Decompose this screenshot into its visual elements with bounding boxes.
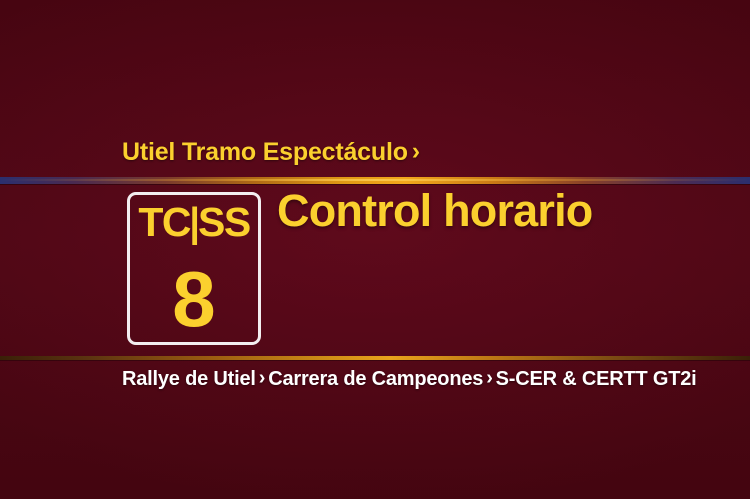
chevron-right-icon: ›	[412, 137, 420, 166]
plate-code-right: SS	[198, 199, 250, 245]
breadcrumb-item-event: Rallye de Utiel	[122, 368, 256, 390]
breadcrumb: Rallye de Utiel›Carrera de Campeones›S-C…	[122, 368, 697, 391]
divider-bottom	[0, 356, 750, 360]
plate-code: TC|SS	[130, 202, 258, 243]
stage-name-eyebrow: Utiel Tramo Espectáculo›	[122, 138, 420, 167]
plate-number: 8	[130, 260, 258, 338]
page-title: Control horario	[277, 186, 592, 236]
breadcrumb-item-series: S-CER & CERTT GT2i	[496, 368, 697, 390]
timecontrol-plate: TC|SS 8	[127, 192, 261, 345]
divider-top	[0, 177, 750, 184]
stage-name-label: Utiel Tramo Espectáculo	[122, 138, 408, 166]
breadcrumb-item-race: Carrera de Campeones	[268, 368, 483, 390]
plate-code-left: TC	[138, 199, 190, 245]
titlecard-root: Utiel Tramo Espectáculo› TC|SS 8 Control…	[0, 0, 750, 499]
plate-code-bar-icon: |	[189, 202, 198, 243]
chevron-right-icon: ›	[486, 367, 492, 390]
chevron-right-icon: ›	[259, 367, 265, 390]
